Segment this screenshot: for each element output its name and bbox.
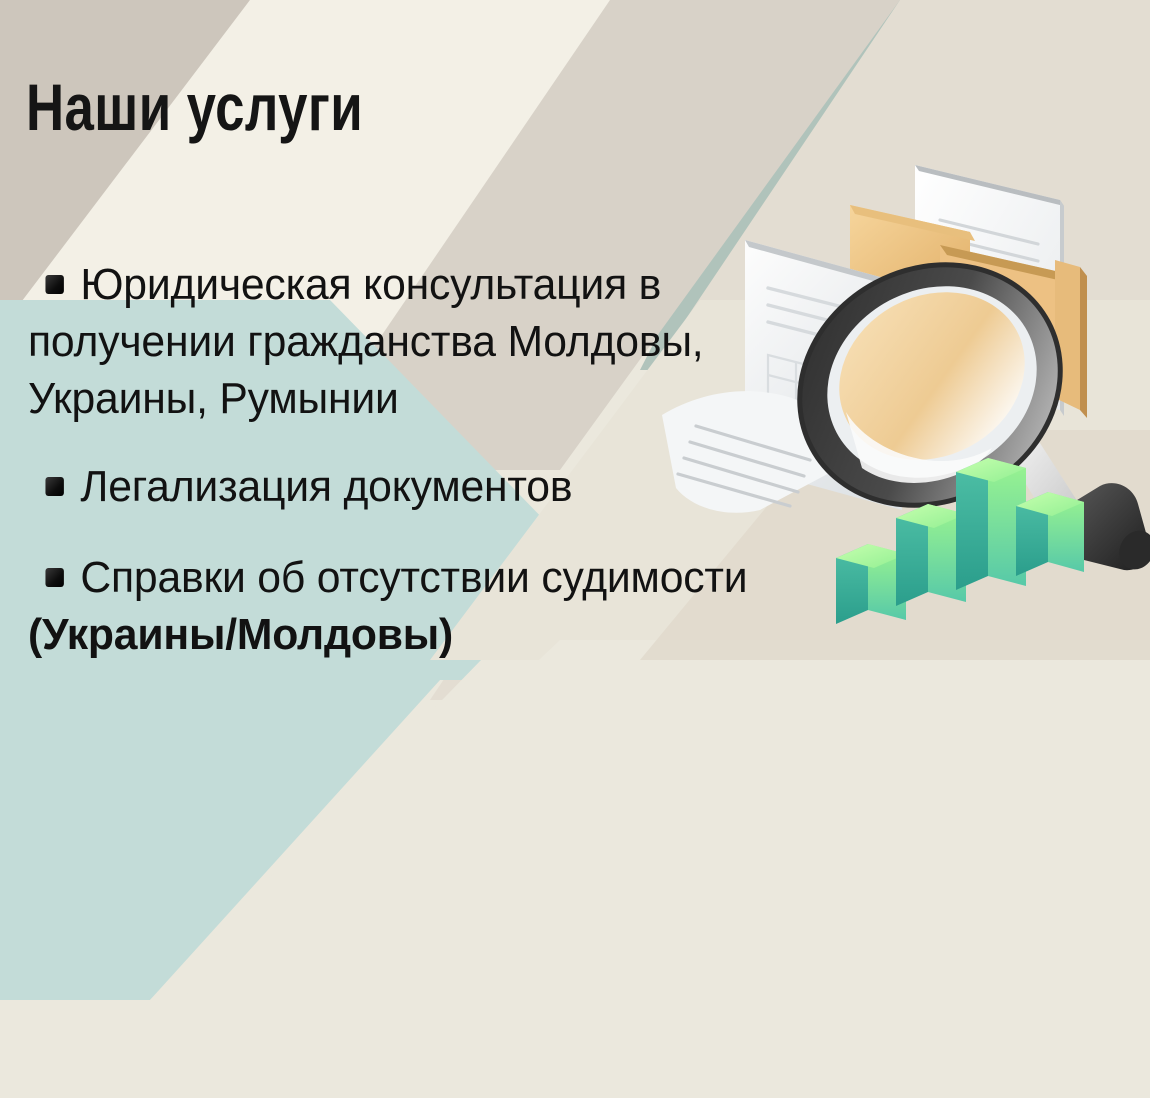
square-bullet-icon [45,568,63,587]
bar-1 [836,544,906,624]
service-label-1: Юридическая консультация в получении гра… [28,260,703,423]
service-item-text-2: Легализация документов [28,458,765,515]
service-item-text-3: Справки об отсутствии судимости [28,549,765,606]
page-title: Наши услуги [26,74,363,140]
poster-canvas: Наши услуги Юридическая консультация в п… [0,0,1150,1098]
bar-2 [896,504,966,606]
service-label-2: Легализация документов [80,462,572,511]
services-list: Юридическая консультация в получении гра… [28,256,788,663]
list-item: Юридическая консультация в получении гра… [28,256,788,428]
square-bullet-icon [45,477,63,496]
list-item: Легализация документов [28,458,788,515]
service-item-text-1: Юридическая консультация в получении гра… [28,256,765,428]
bar-3 [956,458,1026,590]
list-item: Справки об отсутствии судимости (Украины… [28,549,788,663]
service-footnote: (Украины/Молдовы) [28,606,765,663]
bar-4 [1016,492,1084,576]
square-bullet-icon [45,275,63,294]
service-label-3: Справки об отсутствии судимости [80,553,747,602]
